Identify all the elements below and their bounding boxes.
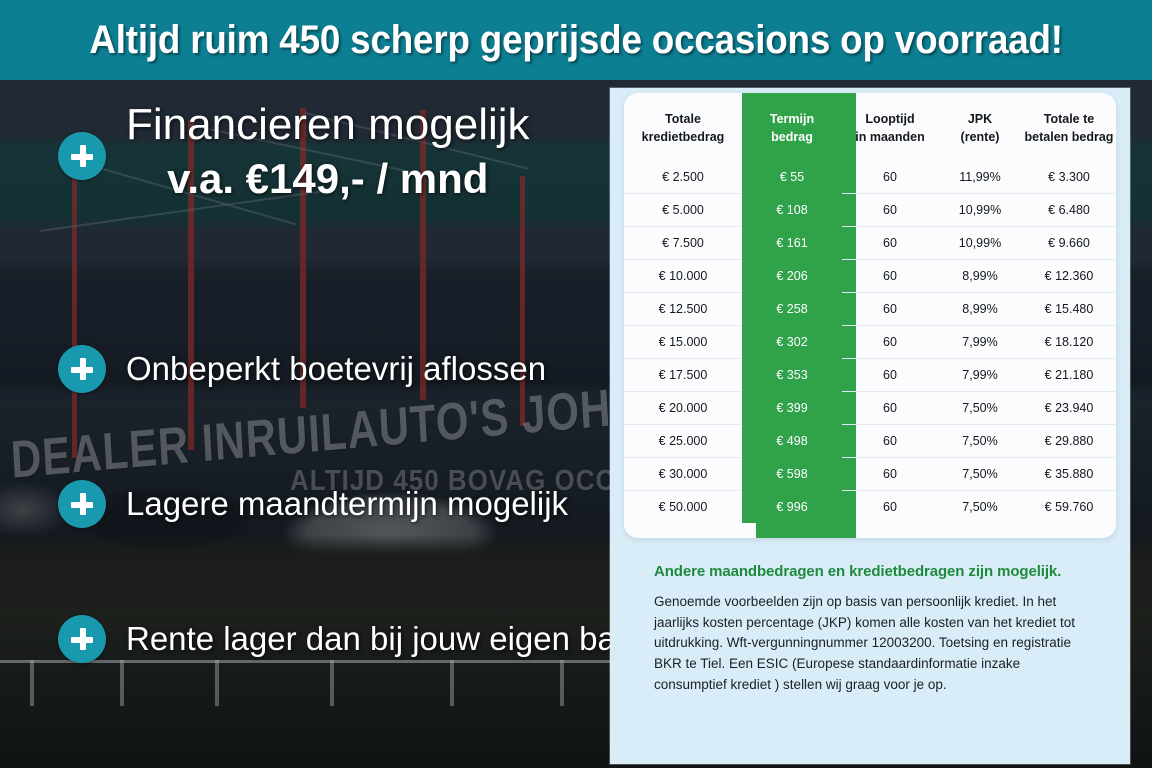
header-line-2: bedrag [742,128,842,146]
cell-krediet: € 25.000 [624,425,742,458]
header-line-1: Looptijd [842,110,938,128]
cell-termijn: € 302 [742,326,842,359]
cell-jkp: 7,50% [938,392,1022,425]
cell-krediet: € 50.000 [624,491,742,524]
cell-jkp: 7,50% [938,458,1022,491]
cell-krediet: € 10.000 [624,260,742,293]
cell-looptijd: 60 [842,194,938,227]
banner-headline: Altijd ruim 450 scherp geprijsde occasio… [89,18,1063,63]
column-header-jkp: JPK (rente) [938,93,1022,161]
cell-krediet: € 2.500 [624,161,742,194]
cell-looptijd: 60 [842,326,938,359]
cell-totaal: € 21.180 [1022,359,1116,392]
usp-item-label: Onbeperkt boetevrij aflossen [126,350,546,388]
promo-banner-image: Altijd ruim 450 scherp geprijsde occasio… [0,0,1152,768]
cell-jkp: 10,99% [938,227,1022,260]
cell-totaal: € 3.300 [1022,161,1116,194]
cell-krediet: € 15.000 [624,326,742,359]
cell-jkp: 8,99% [938,293,1022,326]
cell-krediet: € 5.000 [624,194,742,227]
column-header-krediet: Totale kredietbedrag [624,93,742,161]
table-row: € 5.000€ 1086010,99%€ 6.480 [624,194,1116,227]
cell-krediet: € 20.000 [624,392,742,425]
cell-totaal: € 6.480 [1022,194,1116,227]
cell-krediet: € 12.500 [624,293,742,326]
cell-termijn: € 206 [742,260,842,293]
cell-looptijd: 60 [842,425,938,458]
cell-termijn: € 161 [742,227,842,260]
rates-panel: Totale kredietbedrag Termijn bedrag Loop… [610,88,1130,764]
table-row: € 25.000€ 498607,50%€ 29.880 [624,425,1116,458]
table-row: € 30.000€ 598607,50%€ 35.880 [624,458,1116,491]
usp-item-financieren: Financieren mogelijk v.a. €149,- / mnd [58,100,530,203]
cell-termijn: € 598 [742,458,842,491]
cell-termijn: € 498 [742,425,842,458]
top-banner: Altijd ruim 450 scherp geprijsde occasio… [0,0,1152,80]
header-line-1: Totale te [1022,110,1116,128]
usp-item-label: Financieren mogelijk v.a. €149,- / mnd [126,100,530,203]
cell-jkp: 7,99% [938,326,1022,359]
plus-icon [58,480,106,528]
disclaimer-body: Genoemde voorbeelden zijn op basis van p… [654,592,1084,695]
table-row: € 17.500€ 353607,99%€ 21.180 [624,359,1116,392]
cell-totaal: € 59.760 [1022,491,1116,524]
table-row: € 20.000€ 399607,50%€ 23.940 [624,392,1116,425]
cell-totaal: € 12.360 [1022,260,1116,293]
cell-termijn: € 996 [742,491,842,524]
cell-jkp: 7,50% [938,491,1022,524]
header-line-2: (rente) [938,128,1022,146]
cell-looptijd: 60 [842,227,938,260]
cell-termijn: € 258 [742,293,842,326]
disclaimer-block: Andere maandbedragen en kredietbedragen … [654,563,1084,695]
cell-krediet: € 7.500 [624,227,742,260]
disclaimer-heading: Andere maandbedragen en kredietbedragen … [654,563,1084,580]
usp-item-rente: Rente lager dan bij jouw eigen bank [58,615,651,663]
cell-totaal: € 18.120 [1022,326,1116,359]
header-line-1: Termijn [742,110,842,128]
cell-jkp: 8,99% [938,260,1022,293]
cell-jkp: 11,99% [938,161,1022,194]
table-row: € 12.500€ 258608,99%€ 15.480 [624,293,1116,326]
table-row: € 15.000€ 302607,99%€ 18.120 [624,326,1116,359]
table-row: € 2.500€ 556011,99%€ 3.300 [624,161,1116,194]
cell-looptijd: 60 [842,491,938,524]
cell-jkp: 7,99% [938,359,1022,392]
cell-totaal: € 29.880 [1022,425,1116,458]
usp-item-label: Lagere maandtermijn mogelijk [126,485,568,523]
cell-looptijd: 60 [842,293,938,326]
cell-totaal: € 9.660 [1022,227,1116,260]
cell-krediet: € 17.500 [624,359,742,392]
header-line-1: Totale [624,110,742,128]
table-row: € 50.000€ 996607,50%€ 59.760 [624,491,1116,524]
header-line-1: JPK [938,110,1022,128]
plus-icon [58,615,106,663]
usp-line-1: Financieren mogelijk [126,100,530,151]
cell-termijn: € 353 [742,359,842,392]
rates-table: Totale kredietbedrag Termijn bedrag Loop… [624,93,1116,523]
header-line-2: kredietbedrag [624,128,742,146]
cell-looptijd: 60 [842,392,938,425]
cell-totaal: € 23.940 [1022,392,1116,425]
usp-item-maandtermijn: Lagere maandtermijn mogelijk [58,480,568,528]
cell-looptijd: 60 [842,161,938,194]
cell-krediet: € 30.000 [624,458,742,491]
header-line-2: betalen bedrag [1022,128,1116,146]
table-row: € 10.000€ 206608,99%€ 12.360 [624,260,1116,293]
usp-list: Financieren mogelijk v.a. €149,- / mnd O… [0,80,612,768]
cell-jkp: 7,50% [938,425,1022,458]
column-header-totaal: Totale te betalen bedrag [1022,93,1116,161]
table-header-row: Totale kredietbedrag Termijn bedrag Loop… [624,93,1116,161]
header-line-2: in maanden [842,128,938,146]
rates-table-card: Totale kredietbedrag Termijn bedrag Loop… [624,93,1116,538]
usp-item-aflossen: Onbeperkt boetevrij aflossen [58,345,546,393]
cell-termijn: € 108 [742,194,842,227]
cell-looptijd: 60 [842,260,938,293]
cell-looptijd: 60 [842,359,938,392]
table-row: € 7.500€ 1616010,99%€ 9.660 [624,227,1116,260]
cell-termijn: € 55 [742,161,842,194]
column-header-looptijd: Looptijd in maanden [842,93,938,161]
usp-line-2: v.a. €149,- / mnd [126,155,530,203]
plus-icon [58,345,106,393]
cell-totaal: € 35.880 [1022,458,1116,491]
rates-table-body: € 2.500€ 556011,99%€ 3.300€ 5.000€ 10860… [624,161,1116,523]
cell-jkp: 10,99% [938,194,1022,227]
plus-icon [58,132,106,180]
cell-termijn: € 399 [742,392,842,425]
column-header-termijn: Termijn bedrag [742,93,842,161]
cell-totaal: € 15.480 [1022,293,1116,326]
cell-looptijd: 60 [842,458,938,491]
usp-item-label: Rente lager dan bij jouw eigen bank [126,620,651,658]
